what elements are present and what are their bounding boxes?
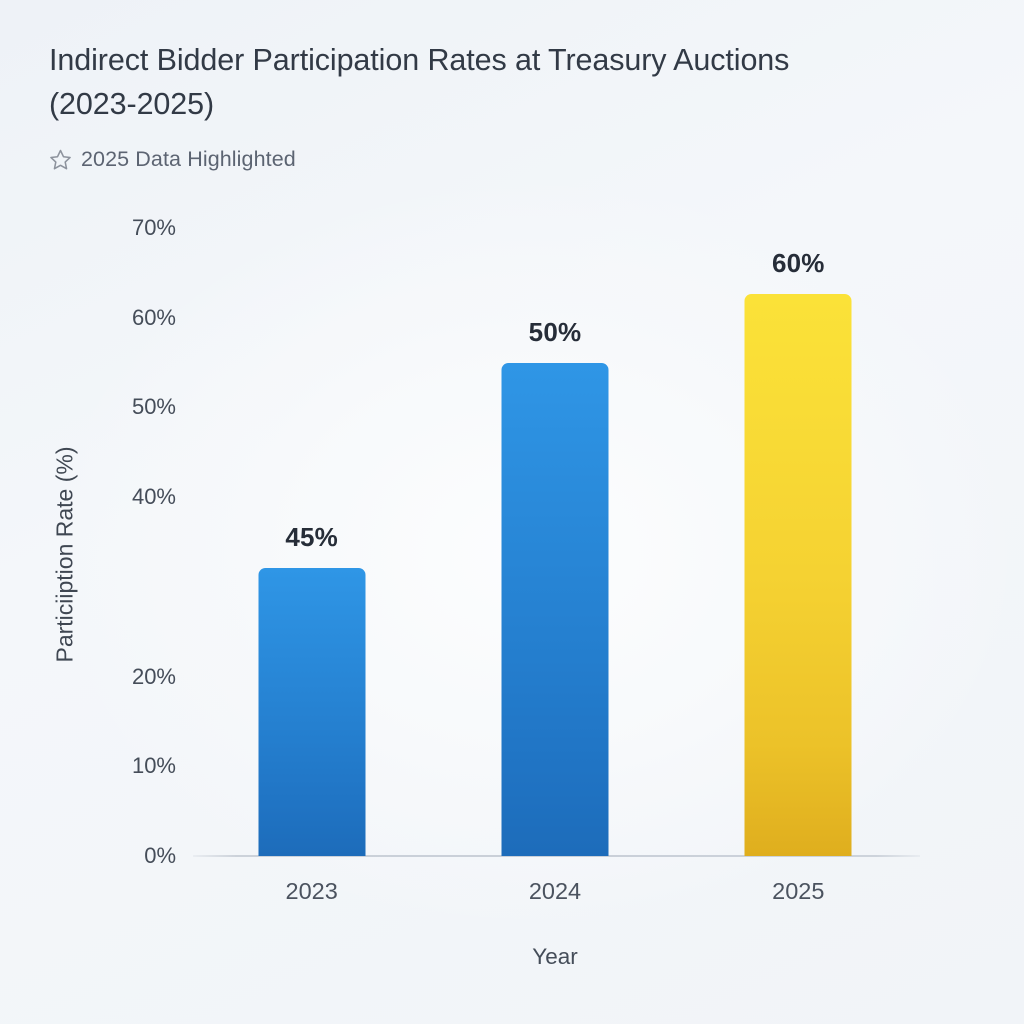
y-axis-tick-label: 70% (132, 215, 176, 241)
page-title: Indirect Bidder Participation Rates at T… (49, 38, 949, 126)
y-axis-tick-label: 60% (132, 305, 176, 331)
x-axis-title: Year (190, 944, 920, 970)
chart-header: Indirect Bidder Participation Rates at T… (49, 38, 949, 172)
star-outline-icon (49, 148, 72, 171)
y-axis-ticks: 70%60%50%40%20%10%0% (0, 228, 176, 857)
chart-subtitle-label: 2025 Data Highlighted (81, 147, 296, 172)
chart-card: Indirect Bidder Participation Rates at T… (0, 0, 1024, 1024)
x-axis-tick-2024: 2024 (433, 878, 676, 905)
bar-value-label: 60% (772, 248, 825, 279)
y-axis-tick-label: 10% (132, 753, 176, 779)
bar-group: 60% (677, 228, 920, 856)
y-axis-tick-label: 40% (132, 484, 176, 510)
y-axis-tick-label: 50% (132, 394, 176, 420)
bar-group: 45% (190, 228, 433, 856)
bar-2025[interactable] (745, 294, 852, 856)
chart-subtitle: 2025 Data Highlighted (49, 147, 949, 172)
bar-value-label: 50% (529, 317, 582, 348)
y-axis-tick-label: 20% (132, 664, 176, 690)
y-axis-tick-label: 0% (144, 843, 176, 869)
bar-2023[interactable] (258, 568, 365, 856)
x-axis-tick-2025: 2025 (677, 878, 920, 905)
bar-value-label: 45% (285, 522, 338, 553)
bar-2024[interactable] (501, 363, 608, 856)
bar-group: 50% (433, 228, 676, 856)
bar-series: 45%50%60% (190, 228, 920, 856)
x-axis-tick-2023: 2023 (190, 878, 433, 905)
x-axis-ticks: 202320242025 (190, 878, 920, 920)
